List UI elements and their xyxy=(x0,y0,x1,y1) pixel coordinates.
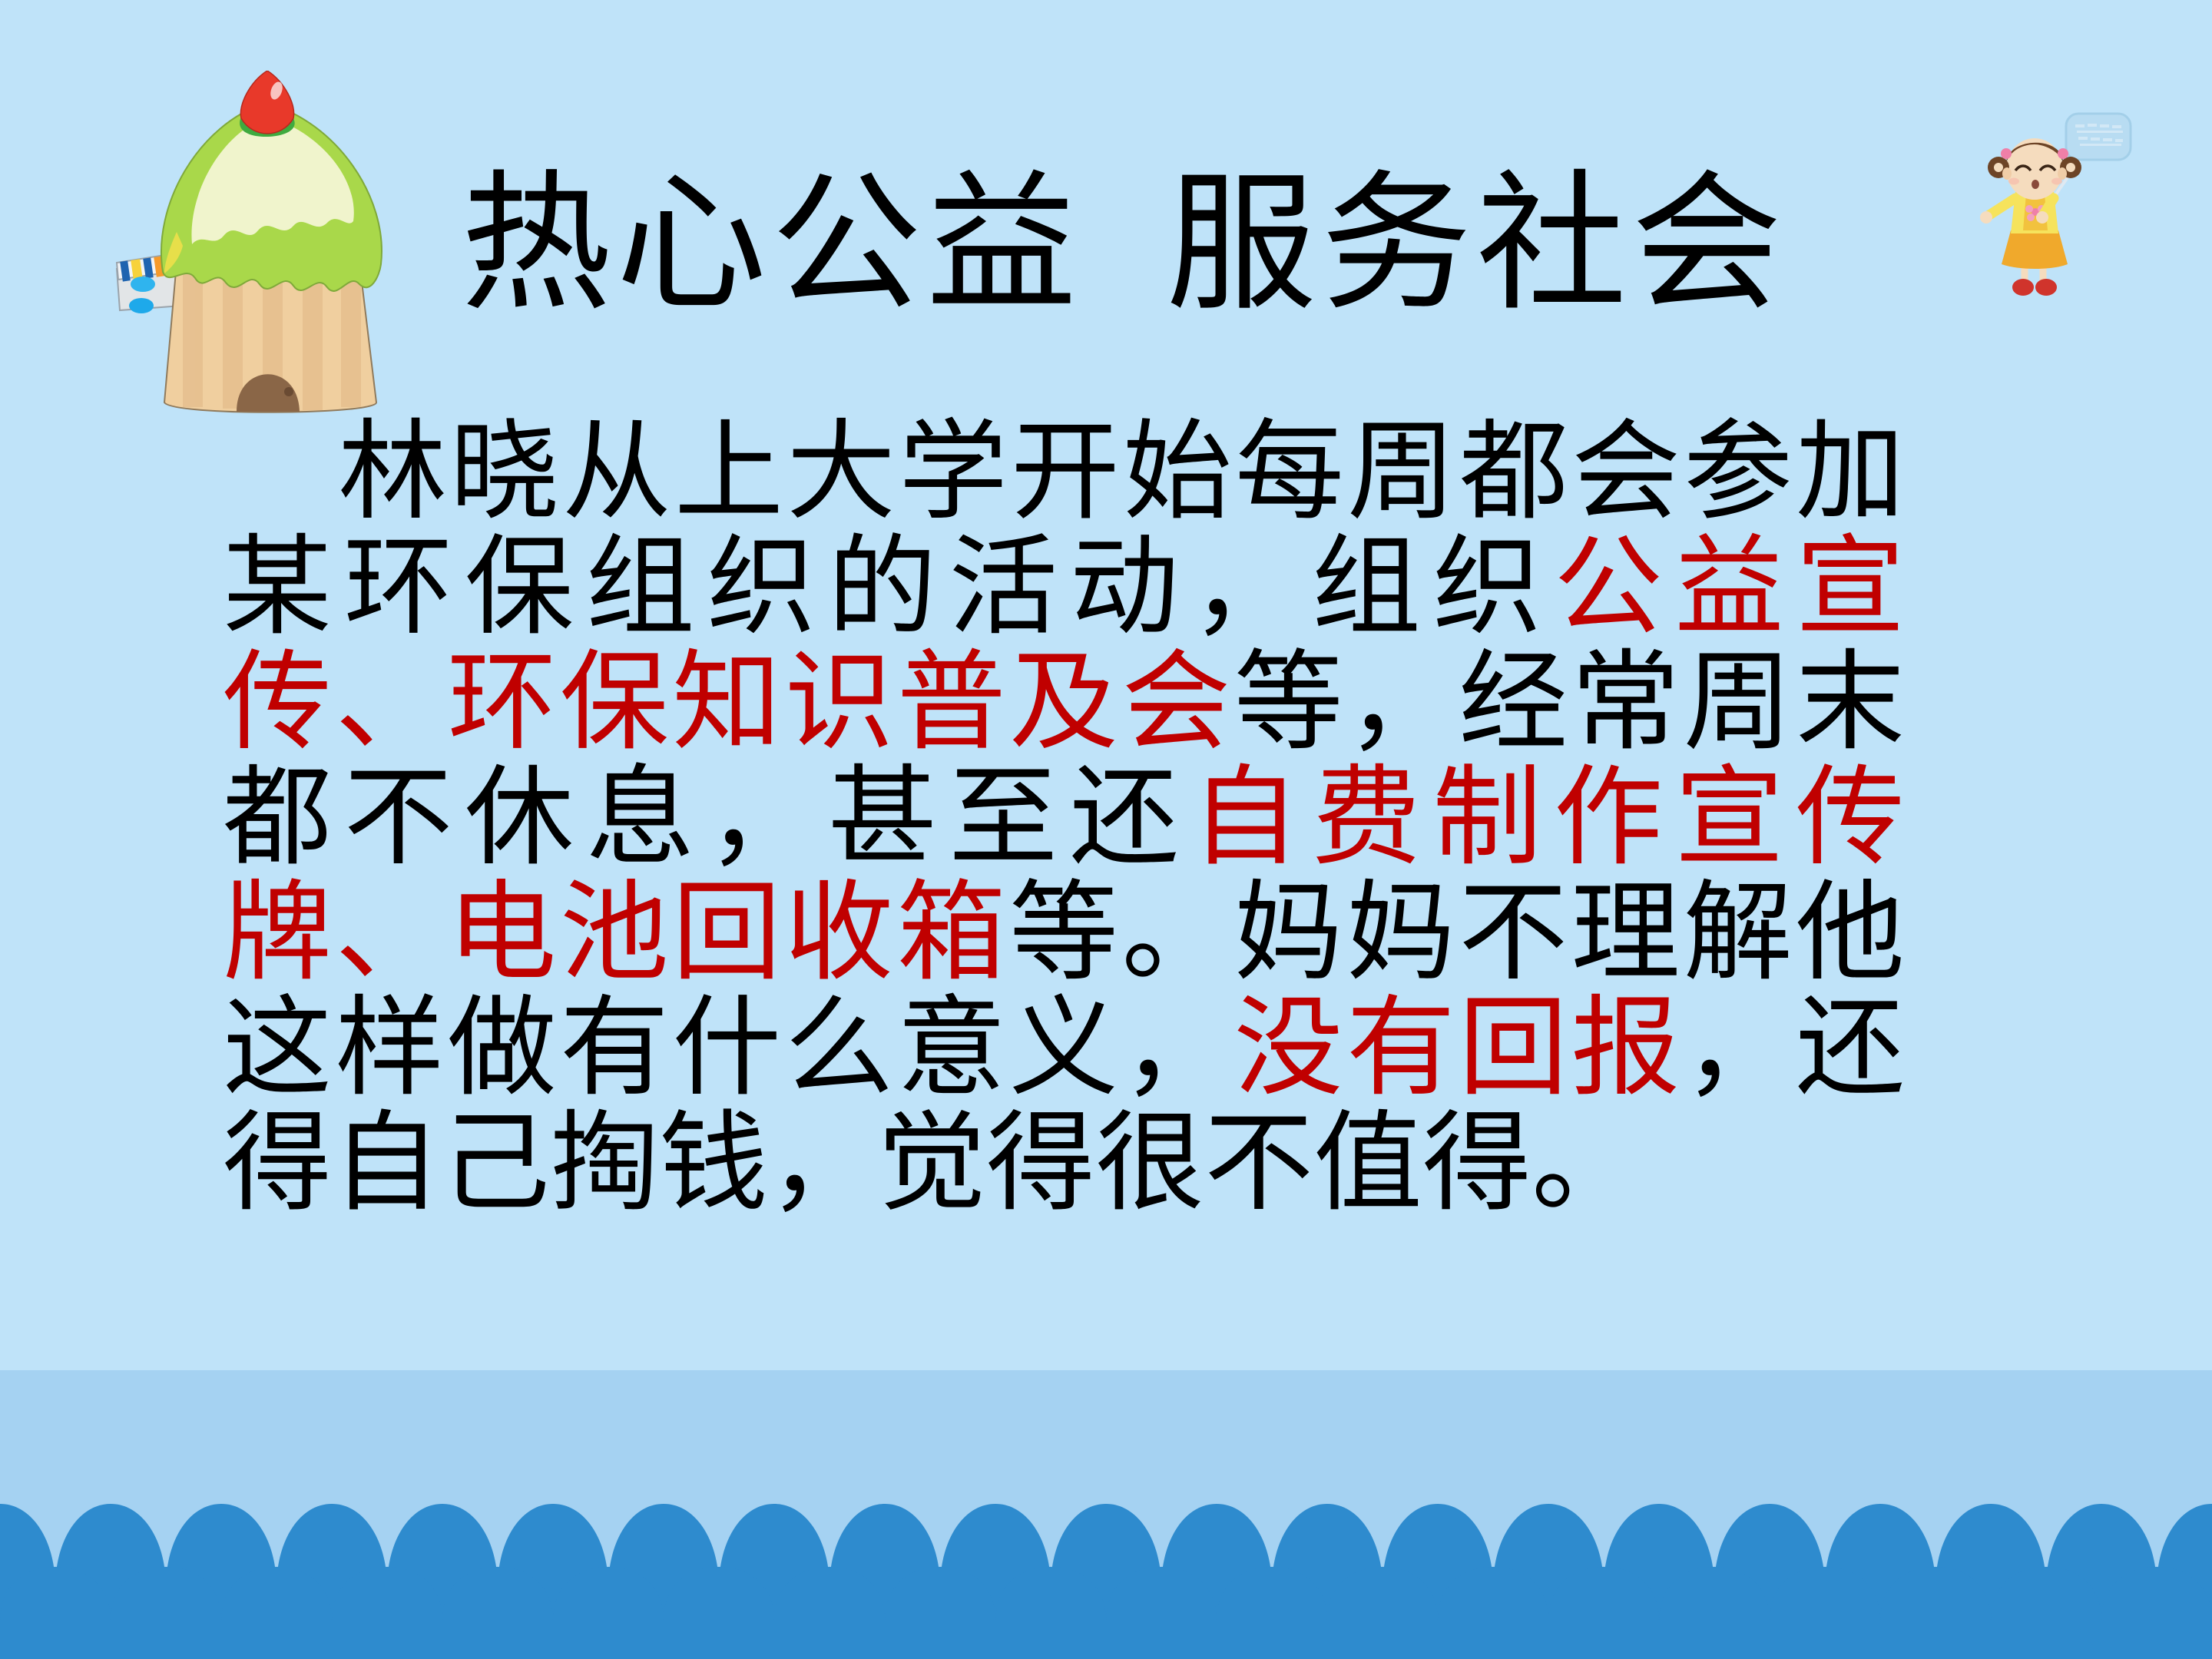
right-hair-bow xyxy=(2058,148,2068,159)
mouth xyxy=(2032,180,2039,189)
door-knob xyxy=(284,387,293,396)
left-arm xyxy=(1989,198,2015,215)
page-title: 热心公益 服务社会 xyxy=(461,171,1920,321)
body-segment-5: 没有回报 xyxy=(1234,988,1684,1109)
skirt xyxy=(2002,230,2068,269)
left-shoe xyxy=(2012,279,2034,296)
left-hand xyxy=(1980,211,1992,224)
arch-border-front-row xyxy=(0,1567,2212,1659)
cake-house-illustration xyxy=(106,71,429,439)
sign-board xyxy=(2066,114,2131,160)
slide-canvas: 热心公益 服务社会 林晓从上大学开始每周都会参加某环保组织的活动，组织公益宣传、… xyxy=(0,0,2212,1659)
girl-with-sign-illustration xyxy=(1951,108,2143,315)
berry-icon xyxy=(240,71,293,134)
right-hand xyxy=(2036,211,2048,224)
left-hair-bow xyxy=(2001,148,2012,159)
right-shoe xyxy=(2035,279,2057,296)
body-paragraph: 林晓从上大学开始每周都会参加某环保组织的活动，组织公益宣传、环保知识普及会等，经… xyxy=(223,415,1905,1221)
